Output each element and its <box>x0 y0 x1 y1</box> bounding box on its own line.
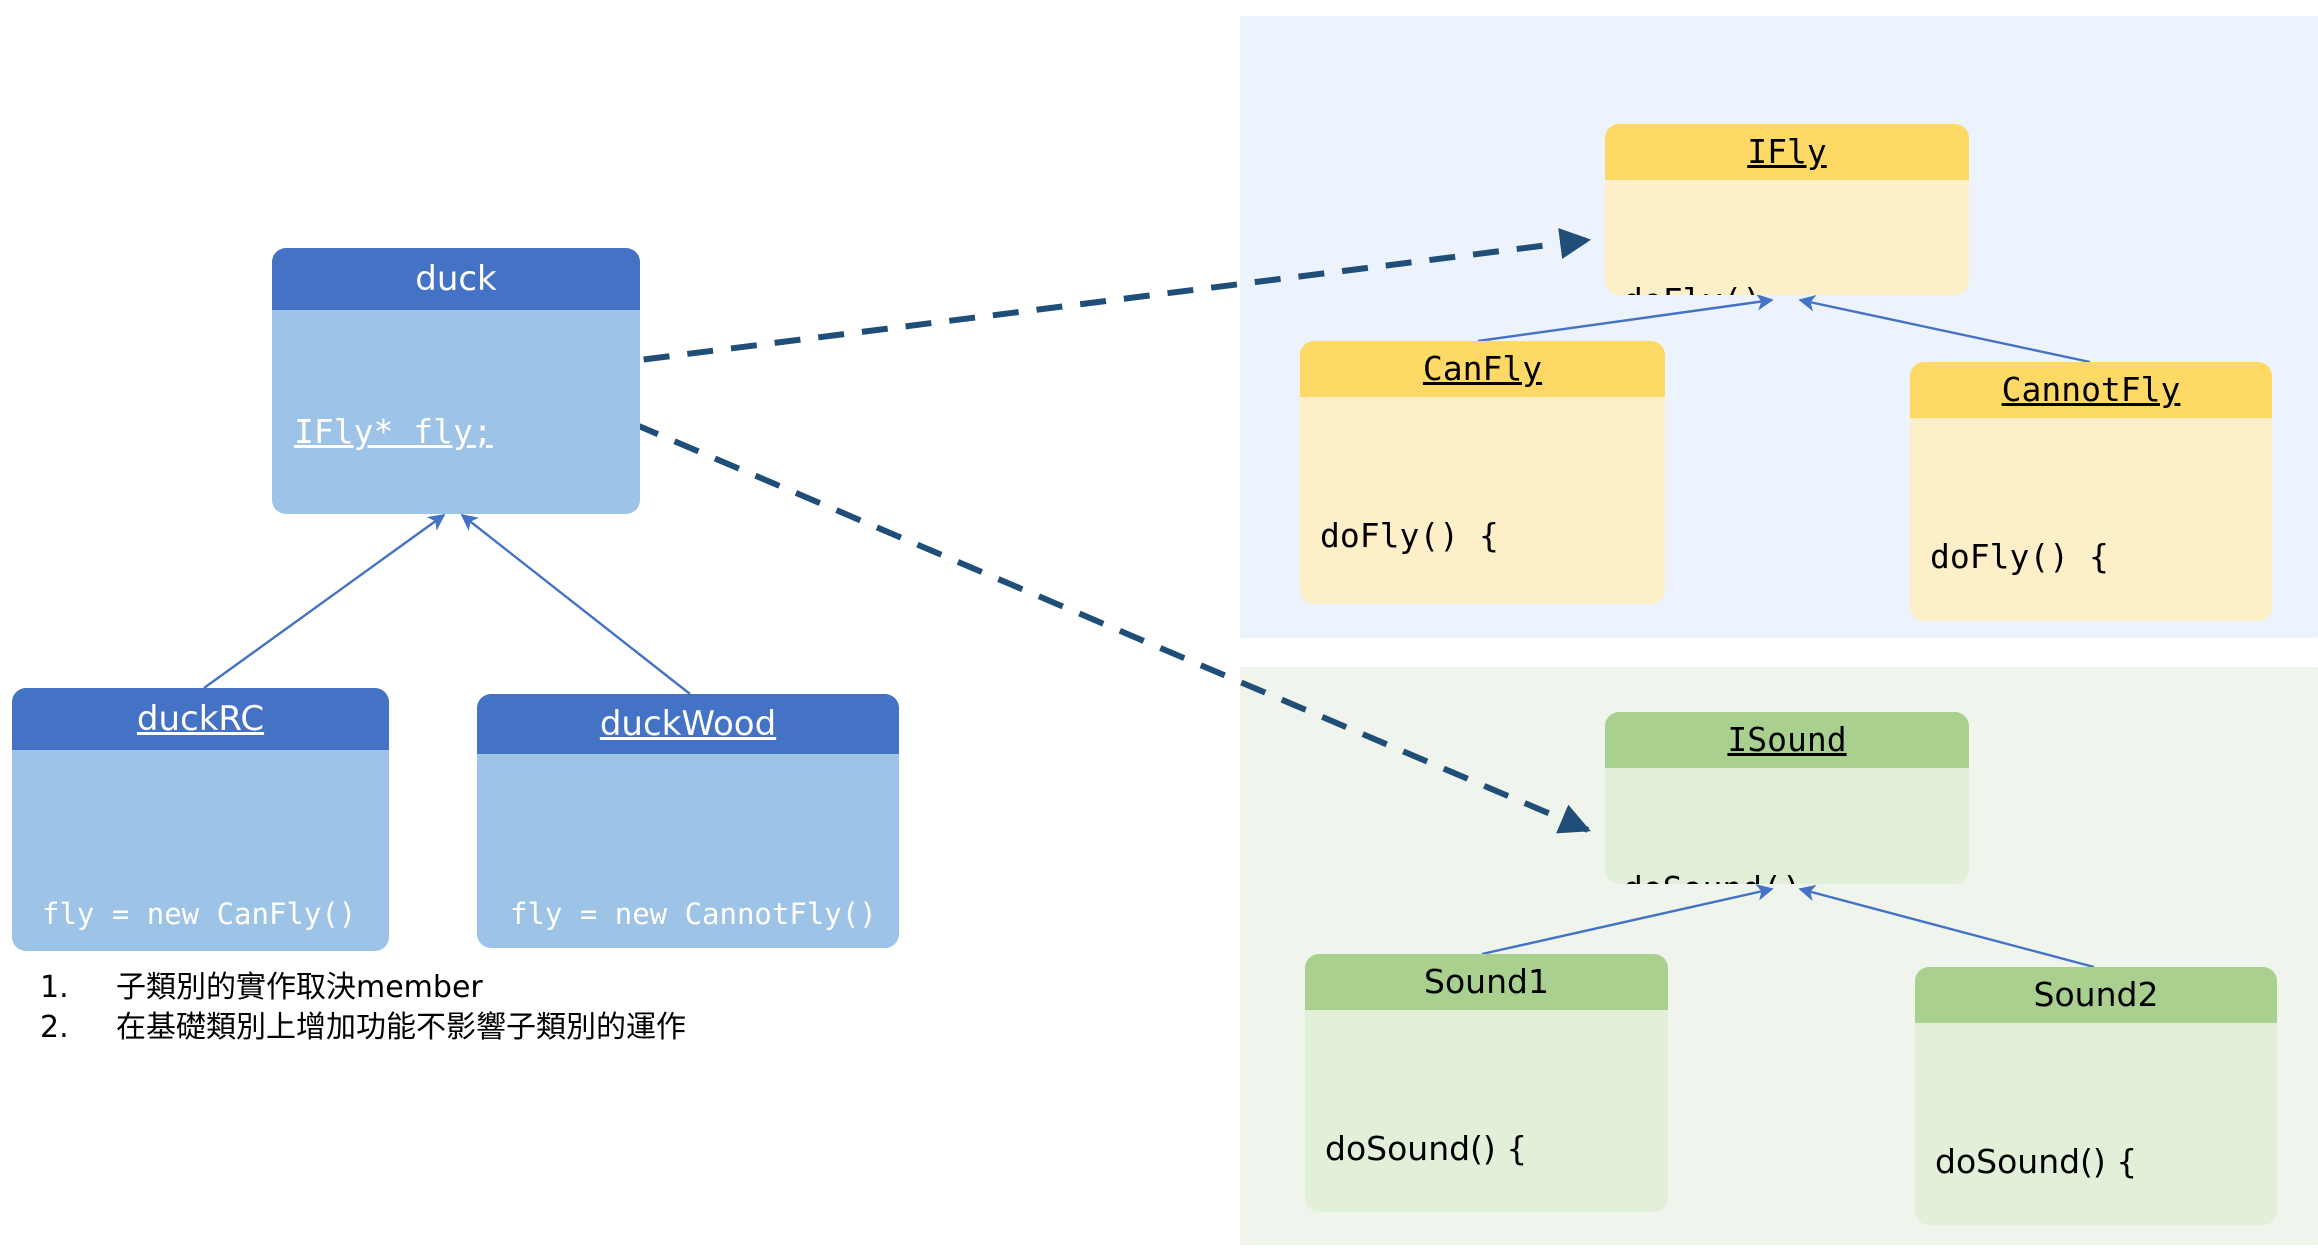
member-sound1-0: doSound() { <box>1325 1129 1527 1168</box>
class-box-duckrc[interactable]: duckRC fly = new CanFly() <box>12 688 389 951</box>
class-box-canfly[interactable]: CanFly doFly() { “Can fly” } <box>1300 341 1665 604</box>
class-box-sound1[interactable]: Sound1 doSound() { “Sound1” } <box>1305 954 1668 1212</box>
note-item: 1. 子類別的實作取決member <box>40 968 800 1008</box>
class-members-sound2: doSound() { “Sound2” } <box>1915 1023 2277 1225</box>
member-ifly-0: doFly() <box>1623 281 1762 295</box>
notes-list: 1. 子類別的實作取決member 2. 在基礎類別上增加功能不影響子類別的運作 <box>40 968 800 1048</box>
note-number: 2. <box>40 1008 116 1048</box>
class-members-duckrc: fly = new CanFly() <box>12 750 389 951</box>
member-cannotfly-0: doFly() { <box>1930 537 2109 576</box>
class-title-canfly: CanFly <box>1300 341 1665 397</box>
class-box-ifly[interactable]: IFly doFly() … <box>1605 124 1969 295</box>
edge-duckrc-to-duck <box>204 515 444 688</box>
class-box-duck[interactable]: duck IFly* fly; Isound* sound; … <box>272 248 640 514</box>
edge-duckwood-to-duck <box>462 515 690 694</box>
member-canfly-0: doFly() { <box>1320 516 1499 555</box>
class-members-duck: IFly* fly; Isound* sound; … <box>272 310 640 514</box>
class-box-duckwood[interactable]: duckWood fly = new CannotFly() <box>477 694 899 948</box>
class-box-cannotfly[interactable]: CannotFly doFly() { “Cannot fly” } <box>1910 362 2272 621</box>
diagram-canvas: duck IFly* fly; Isound* sound; … duckRC … <box>0 0 2318 1258</box>
note-text: 在基礎類別上增加功能不影響子類別的運作 <box>116 1008 800 1048</box>
class-members-sound1: doSound() { “Sound1” } <box>1305 1010 1668 1212</box>
member-duckwood-0: fly = new CannotFly() <box>510 897 877 931</box>
note-item: 2. 在基礎類別上增加功能不影響子類別的運作 <box>40 1008 800 1048</box>
class-members-canfly: doFly() { “Can fly” } <box>1300 397 1665 604</box>
class-title-duckrc: duckRC <box>12 688 389 750</box>
class-title-isound: ISound <box>1605 712 1969 768</box>
member-isound-0: doSound() <box>1623 869 1802 884</box>
class-title-sound1: Sound1 <box>1305 954 1668 1010</box>
class-box-isound[interactable]: ISound doSound() … <box>1605 712 1969 884</box>
note-number: 1. <box>40 968 116 1008</box>
class-members-ifly: doFly() … <box>1605 180 1969 295</box>
member-sound2-0: doSound() { <box>1935 1142 2137 1181</box>
class-title-cannotfly: CannotFly <box>1910 362 2272 418</box>
class-title-sound2: Sound2 <box>1915 967 2277 1023</box>
class-title-duckwood: duckWood <box>477 694 899 754</box>
class-members-isound: doSound() … <box>1605 768 1969 884</box>
class-title-duck: duck <box>272 248 640 310</box>
member-duck-0-type: IFly* fly; <box>294 412 493 451</box>
note-text: 子類別的實作取決member <box>116 968 800 1008</box>
class-box-sound2[interactable]: Sound2 doSound() { “Sound2” } <box>1915 967 2277 1225</box>
member-duckrc-0: fly = new CanFly() <box>42 897 356 931</box>
class-members-duckwood: fly = new CannotFly() <box>477 754 899 948</box>
class-title-ifly: IFly <box>1605 124 1969 180</box>
class-members-cannotfly: doFly() { “Cannot fly” } <box>1910 418 2272 621</box>
